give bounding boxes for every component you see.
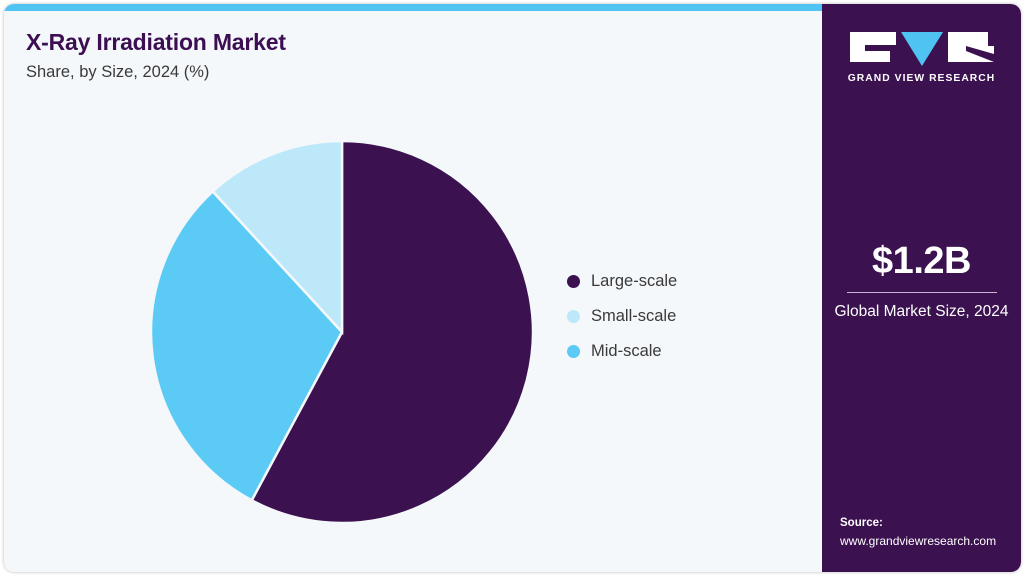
legend-item-mid-scale[interactable]: Mid-scale bbox=[567, 342, 677, 361]
source-label: Source: bbox=[840, 515, 1015, 532]
stat-caption: Global Market Size, 2024 bbox=[834, 302, 1009, 323]
logo-triangle-v-icon bbox=[901, 32, 943, 66]
legend-item-large-scale[interactable]: Large-scale bbox=[567, 272, 677, 291]
pie-svg bbox=[149, 139, 535, 525]
chart-card: X-Ray Irradiation Market Share, by Size,… bbox=[4, 4, 1021, 572]
brand-side-panel: GRAND VIEW RESEARCH $1.2B Global Market … bbox=[822, 4, 1021, 572]
stat-value: $1.2B bbox=[872, 242, 971, 280]
legend-label: Large-scale bbox=[591, 272, 677, 291]
chart-subtitle: Share, by Size, 2024 (%) bbox=[26, 62, 726, 83]
page-title: X-Ray Irradiation Market bbox=[26, 28, 726, 57]
logo-letter-r-icon bbox=[948, 32, 994, 62]
legend-item-small-scale[interactable]: Small-scale bbox=[567, 307, 677, 326]
chart-header: X-Ray Irradiation Market Share, by Size,… bbox=[26, 28, 726, 83]
source-block: Source: www.grandviewresearch.com bbox=[840, 515, 1015, 550]
legend-label: Small-scale bbox=[591, 307, 676, 326]
market-size-stat: $1.2B Global Market Size, 2024 bbox=[822, 242, 1021, 323]
brand-logo: GRAND VIEW RESEARCH bbox=[822, 32, 1021, 84]
source-url[interactable]: www.grandviewresearch.com bbox=[840, 533, 1015, 550]
chart-legend: Large-scale Small-scale Mid-scale bbox=[567, 272, 677, 361]
legend-swatch-icon bbox=[567, 310, 580, 323]
legend-swatch-icon bbox=[567, 345, 580, 358]
stat-divider bbox=[847, 292, 997, 293]
pie-chart bbox=[149, 139, 535, 525]
legend-swatch-icon bbox=[567, 275, 580, 288]
logo-marks bbox=[850, 32, 994, 66]
legend-label: Mid-scale bbox=[591, 342, 662, 361]
brand-wordmark: GRAND VIEW RESEARCH bbox=[848, 73, 996, 84]
chart-plot-area: X-Ray Irradiation Market Share, by Size,… bbox=[4, 4, 822, 572]
logo-letter-g-icon bbox=[850, 32, 896, 62]
